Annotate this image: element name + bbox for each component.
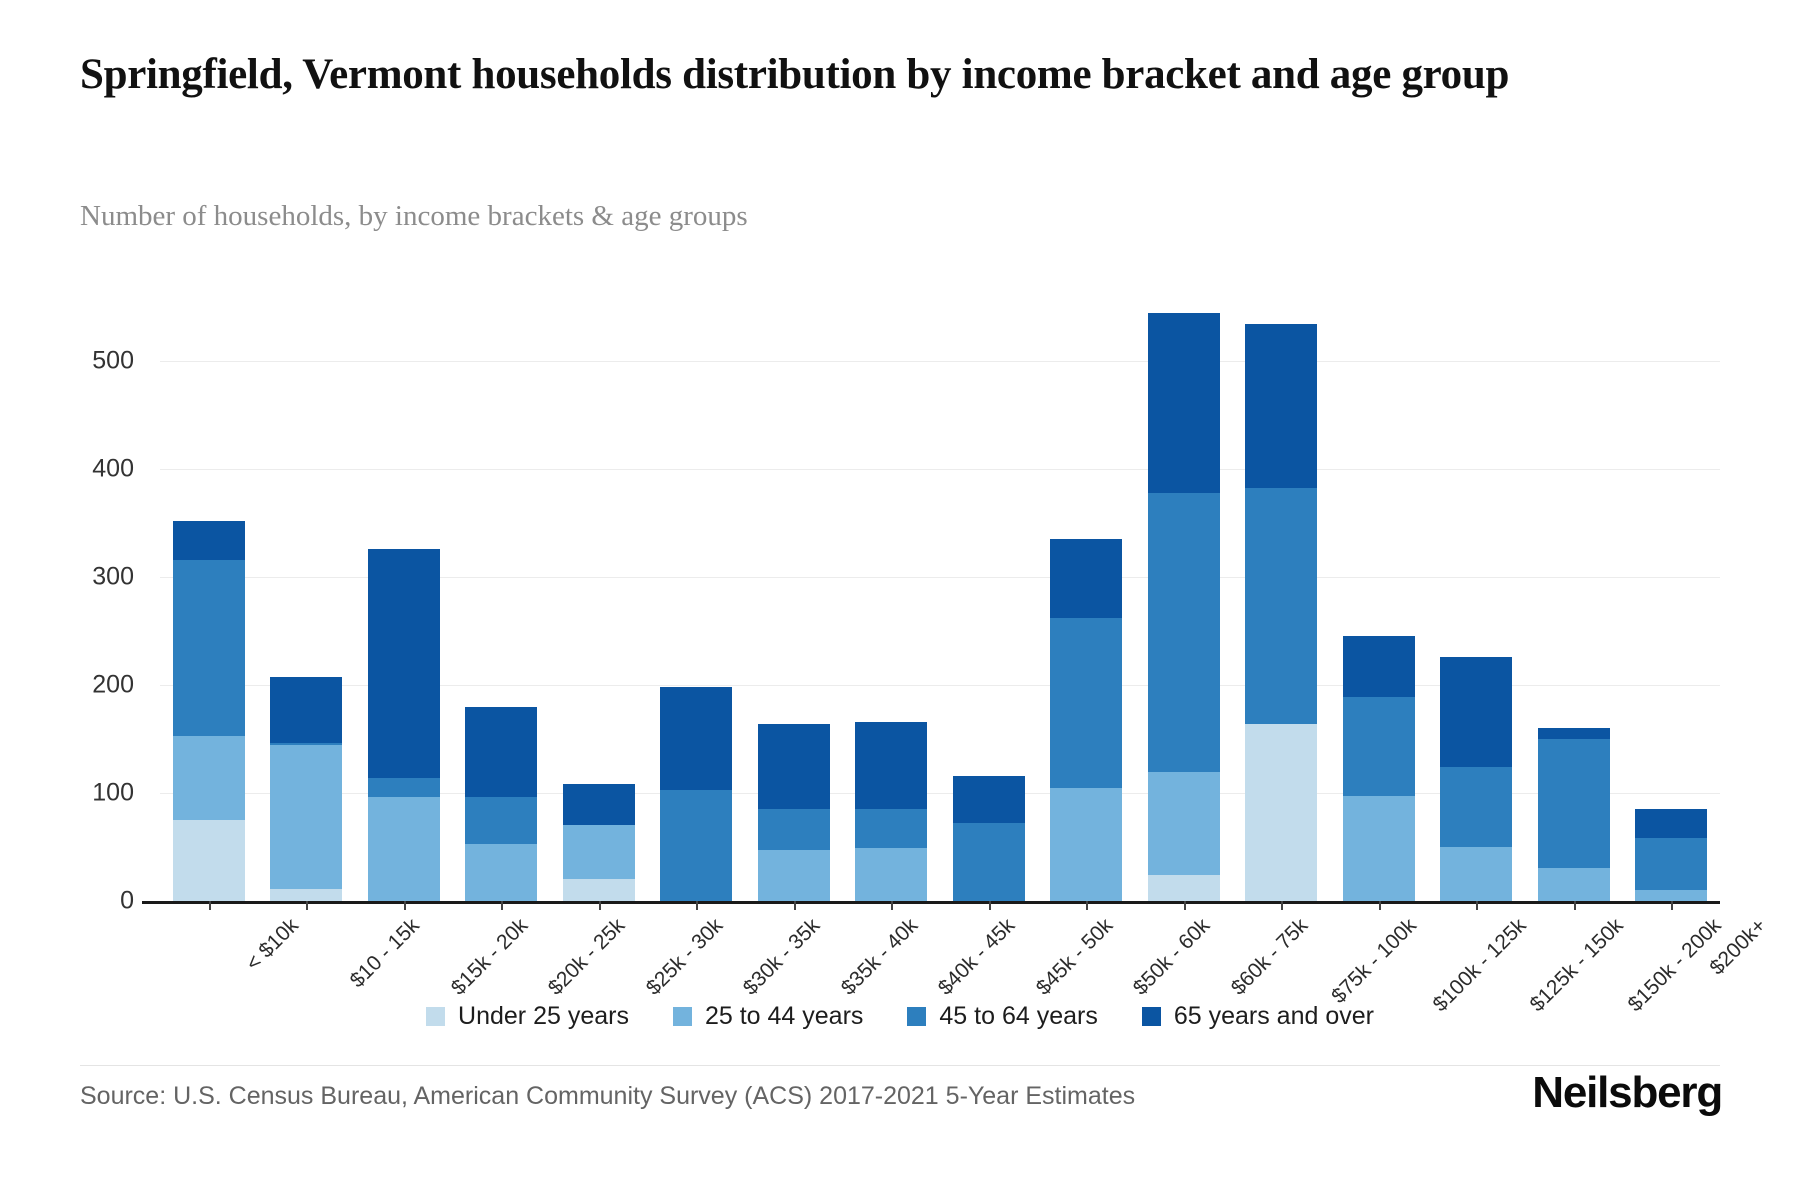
legend-swatch-icon [1142, 1007, 1161, 1026]
bar-segment[interactable] [1148, 772, 1220, 875]
legend-swatch-icon [907, 1007, 926, 1026]
plot-area: 0100200300400500 < $10k$10 - 15k$15k - 2… [160, 296, 1720, 901]
chart-page: Springfield, Vermont households distribu… [0, 0, 1800, 1200]
x-axis-label: $50k - 60k [1129, 914, 1215, 1000]
bar-segment[interactable] [368, 778, 440, 797]
chart-legend: Under 25 years25 to 44 years45 to 64 yea… [0, 1002, 1800, 1031]
bar-segment[interactable] [1440, 767, 1512, 847]
bar-segment[interactable] [758, 850, 830, 901]
bar-stack[interactable] [1050, 539, 1122, 901]
page-subtitle: Number of households, by income brackets… [80, 200, 1580, 233]
bar-segment[interactable] [1343, 697, 1415, 796]
bar-stack[interactable] [1440, 657, 1512, 901]
bar-segment[interactable] [1148, 313, 1220, 492]
bar-segment[interactable] [563, 784, 635, 825]
bar-segment[interactable] [953, 823, 1025, 901]
x-axis-tickmark [404, 901, 406, 910]
bar-series-layer [160, 296, 1720, 901]
x-axis-tickmark [1476, 901, 1478, 910]
bar-stack[interactable] [1245, 324, 1317, 901]
bar-stack[interactable] [758, 724, 830, 901]
x-axis-label: $45k - 50k [1031, 914, 1117, 1000]
bar-stack[interactable] [1635, 809, 1707, 901]
bar-segment[interactable] [1343, 796, 1415, 901]
source-note: Source: U.S. Census Bureau, American Com… [80, 1082, 1135, 1111]
legend-label: 65 years and over [1174, 1002, 1374, 1031]
bar-segment[interactable] [953, 776, 1025, 824]
x-axis-label: $25k - 30k [641, 914, 727, 1000]
bar-segment[interactable] [173, 736, 245, 820]
bar-segment[interactable] [855, 809, 927, 848]
bar-segment[interactable] [563, 825, 635, 879]
bar-segment[interactable] [173, 560, 245, 736]
bar-segment[interactable] [758, 809, 830, 850]
bar-segment[interactable] [270, 677, 342, 743]
bar-segment[interactable] [368, 549, 440, 778]
bar-segment[interactable] [1148, 493, 1220, 773]
legend-swatch-icon [673, 1007, 692, 1026]
bar-stack[interactable] [1343, 636, 1415, 901]
bar-segment[interactable] [1148, 875, 1220, 901]
bar-stack[interactable] [563, 784, 635, 901]
x-axis-tickmark [1671, 901, 1673, 910]
bar-segment[interactable] [173, 521, 245, 560]
x-axis-tickmark [1574, 901, 1576, 910]
bar-segment[interactable] [1538, 868, 1610, 901]
bar-stack[interactable] [660, 687, 732, 901]
legend-item[interactable]: 45 to 64 years [907, 1002, 1097, 1031]
bar-segment[interactable] [1245, 324, 1317, 488]
x-axis-tickmark [1184, 901, 1186, 910]
x-axis-tickmark [501, 901, 503, 910]
bar-segment[interactable] [1440, 657, 1512, 767]
page-title: Springfield, Vermont households distribu… [80, 48, 1720, 102]
bar-segment[interactable] [465, 797, 537, 843]
y-axis-tick-label: 500 [92, 346, 160, 375]
x-axis-tickmark [599, 901, 601, 910]
bar-stack[interactable] [953, 776, 1025, 901]
bar-segment[interactable] [660, 687, 732, 790]
legend-label: Under 25 years [458, 1002, 629, 1031]
bar-segment[interactable] [1538, 739, 1610, 868]
bar-stack[interactable] [855, 722, 927, 901]
x-axis-label: $30k - 35k [739, 914, 825, 1000]
bar-stack[interactable] [1148, 313, 1220, 901]
legend-item[interactable]: 25 to 44 years [673, 1002, 863, 1031]
x-axis-label: < $10k [241, 914, 303, 976]
bar-segment[interactable] [855, 722, 927, 810]
bar-segment[interactable] [368, 797, 440, 901]
y-axis-tick-label: 100 [92, 778, 160, 807]
bar-stack[interactable] [270, 677, 342, 901]
bar-segment[interactable] [270, 745, 342, 889]
bar-segment[interactable] [1635, 809, 1707, 838]
bar-segment[interactable] [1635, 838, 1707, 890]
bar-stack[interactable] [368, 549, 440, 901]
x-axis-label: $60k - 75k [1226, 914, 1312, 1000]
footer-divider [80, 1065, 1720, 1066]
legend-label: 25 to 44 years [705, 1002, 863, 1031]
bar-segment[interactable] [758, 724, 830, 809]
bar-stack[interactable] [465, 707, 537, 901]
x-axis-label: $15k - 20k [446, 914, 532, 1000]
bar-segment[interactable] [1050, 788, 1122, 901]
x-axis-label: $20k - 25k [544, 914, 630, 1000]
legend-swatch-icon [426, 1007, 445, 1026]
legend-item[interactable]: 65 years and over [1142, 1002, 1374, 1031]
y-axis-tick-label: 300 [92, 562, 160, 591]
x-axis-tickmark [989, 901, 991, 910]
bar-segment[interactable] [660, 790, 732, 901]
x-axis-label: $10 - 15k [346, 914, 425, 993]
bar-segment[interactable] [173, 820, 245, 901]
brand-logo: Neilsberg [1532, 1068, 1722, 1118]
x-axis-label: $75k - 100k [1327, 914, 1422, 1009]
bar-segment[interactable] [1635, 890, 1707, 901]
x-axis-tickmark [1379, 901, 1381, 910]
x-axis-label: $40k - 45k [934, 914, 1020, 1000]
bar-segment[interactable] [270, 889, 342, 901]
bar-segment[interactable] [1245, 724, 1317, 901]
bar-stack[interactable] [173, 521, 245, 901]
legend-label: 45 to 64 years [939, 1002, 1097, 1031]
bar-stack[interactable] [1538, 728, 1610, 901]
x-axis-tickmark [891, 901, 893, 910]
bar-segment[interactable] [1343, 636, 1415, 697]
x-axis-tickmark [1086, 901, 1088, 910]
bar-segment[interactable] [1440, 847, 1512, 901]
bar-segment[interactable] [465, 707, 537, 798]
y-axis-tick-label: 400 [92, 454, 160, 483]
bar-segment[interactable] [563, 879, 635, 901]
x-axis-line [142, 901, 1720, 904]
x-axis-tickmark [306, 901, 308, 910]
bar-segment[interactable] [1050, 539, 1122, 618]
x-axis-tickmark [1281, 901, 1283, 910]
y-axis-tick-label: 200 [92, 670, 160, 699]
bar-segment[interactable] [1245, 488, 1317, 724]
bar-segment[interactable] [465, 844, 537, 901]
x-axis-tickmark [696, 901, 698, 910]
x-axis-label: $35k - 40k [836, 914, 922, 1000]
bar-segment[interactable] [1050, 618, 1122, 788]
x-axis-tickmark [209, 901, 211, 910]
bar-segment[interactable] [1538, 728, 1610, 739]
bar-segment[interactable] [855, 848, 927, 901]
x-axis-tickmark [794, 901, 796, 910]
legend-item[interactable]: Under 25 years [426, 1002, 629, 1031]
